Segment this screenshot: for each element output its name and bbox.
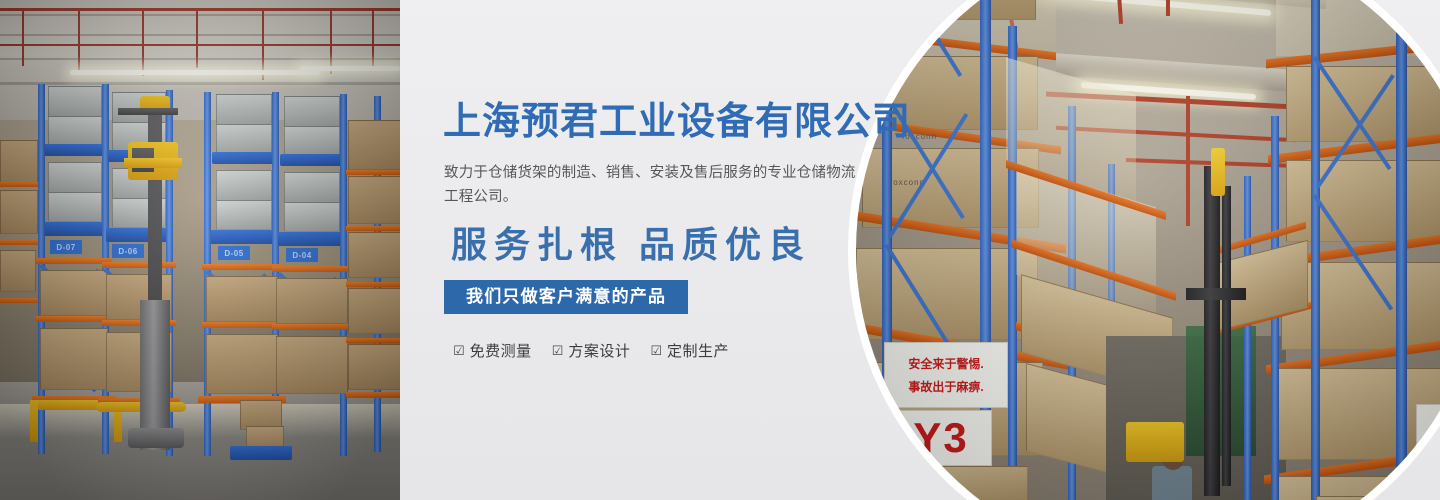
- left-warehouse-photo: D-07 D-06: [0, 0, 400, 500]
- page-title: 上海预君工业设备有限公司: [443, 102, 911, 144]
- check-icon: ☑: [650, 344, 662, 357]
- feature-list: ☑ 免费测量 ☑ 方案设计 ☑ 定制生产: [453, 340, 729, 361]
- banner-content: 上海预君工业设备有限公司 致力于仓储货架的制造、销售、安装及售后服务的专业仓储物…: [443, 0, 913, 500]
- left-photo-vignette: [0, 0, 400, 500]
- check-icon: ☑: [552, 344, 564, 357]
- feature-label: 方案设计: [568, 340, 630, 361]
- right-photo-wrapper: foxconn foxconn foxconn foxconn: [900, 0, 1440, 500]
- right-photo-vignette: [856, 0, 1440, 500]
- feature-label: 定制生产: [667, 340, 729, 361]
- check-icon: ☑: [453, 344, 465, 357]
- feature-item-plan-design: ☑ 方案设计: [552, 340, 631, 361]
- feature-label: 免费测量: [470, 340, 532, 361]
- hero-banner: D-07 D-06: [0, 0, 1440, 500]
- feature-item-free-measure: ☑ 免费测量: [453, 340, 532, 361]
- page-subtitle: 致力于仓储货架的制造、销售、安装及售后服务的专业仓储物流工程公司。: [444, 161, 862, 209]
- feature-item-custom-production: ☑ 定制生产: [650, 340, 729, 361]
- right-warehouse-photo: foxconn foxconn foxconn foxconn: [856, 0, 1440, 500]
- cta-button[interactable]: 我们只做客户满意的产品: [444, 280, 688, 314]
- page-slogan: 服务扎根 品质优良: [451, 226, 811, 266]
